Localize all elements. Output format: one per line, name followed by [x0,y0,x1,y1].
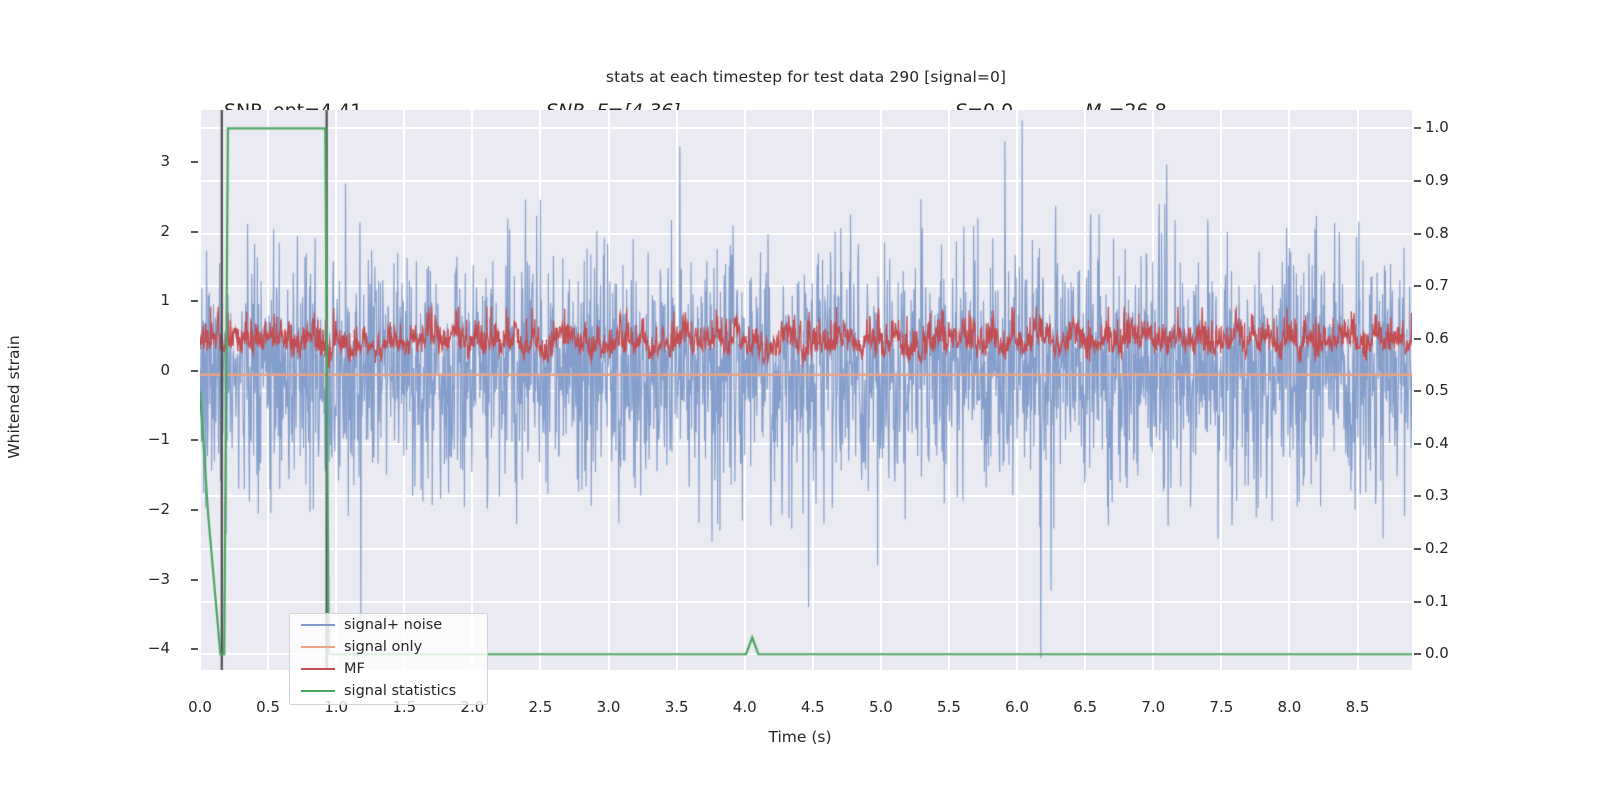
x-tick-label: 8.5 [1333,698,1383,716]
y-tick-label-right: 0.9 [1425,171,1449,189]
legend-item[interactable]: signal only [290,636,487,658]
legend-item[interactable]: signal statistics [290,680,487,702]
legend-swatch-mf [301,668,335,670]
y-tick-label-left: 3 [130,152,170,170]
y-tick-mark-left [191,579,198,581]
y-tick-mark-right [1414,127,1421,129]
y-tick-mark-left [191,231,198,233]
x-tick-label: 7.0 [1128,698,1178,716]
y-tick-mark-right [1414,390,1421,392]
legend-swatch-signal-only [301,646,335,648]
x-tick-label: 4.0 [720,698,770,716]
x-tick-label: 6.5 [1060,698,1110,716]
y-tick-label-left: 1 [130,291,170,309]
y-tick-label-right: 0.7 [1425,276,1449,294]
y-tick-label-right: 0.4 [1425,434,1449,452]
legend-label-mf: MF [344,662,365,677]
legend-swatch-signal-noise [301,624,335,626]
y-tick-label-right: 0.8 [1425,224,1449,242]
y-tick-mark-right [1414,180,1421,182]
figure-canvas: stats at each timestep for test data 290… [0,0,1600,800]
x-tick-label: 0.0 [175,698,225,716]
y-tick-mark-left [191,300,198,302]
legend-box[interactable]: signal+ noise signal only MF signal stat… [289,613,488,705]
x-axis-label: Time (s) [0,728,1600,746]
y-tick-label-right: 1.0 [1425,118,1449,136]
x-tick-label: 3.5 [652,698,702,716]
y-tick-label-left: 0 [130,361,170,379]
legend-item[interactable]: signal+ noise [290,614,487,636]
x-tick-label: 3.0 [584,698,634,716]
x-tick-label: 2.5 [515,698,565,716]
x-tick-label: 6.0 [992,698,1042,716]
legend-item[interactable]: MF [290,658,487,680]
y-tick-mark-right [1414,495,1421,497]
y-tick-mark-right [1414,443,1421,445]
chart-title: stats at each timestep for test data 290… [606,68,1006,86]
y-tick-mark-right [1414,285,1421,287]
y-tick-mark-left [191,509,198,511]
legend-swatch-signal-statistics [301,690,335,692]
y-tick-label-right: 0.0 [1425,644,1449,662]
x-tick-label: 8.0 [1264,698,1314,716]
chart-title-container: stats at each timestep for test data 290… [0,0,1600,18]
y-tick-label-left: −1 [130,430,170,448]
x-tick-label: 7.5 [1196,698,1246,716]
y-tick-label-left: 2 [130,222,170,240]
x-tick-label: 0.5 [243,698,293,716]
y-tick-label-left: −3 [130,570,170,588]
y-tick-mark-left [191,439,198,441]
y-tick-label-left: −2 [130,500,170,518]
y-tick-label-right: 0.5 [1425,381,1449,399]
y-tick-label-right: 0.2 [1425,539,1449,557]
y-tick-mark-right [1414,653,1421,655]
x-tick-label: 5.5 [924,698,974,716]
x-tick-label: 5.0 [856,698,906,716]
y-tick-mark-left [191,161,198,163]
y-tick-label-right: 0.3 [1425,486,1449,504]
y-tick-mark-left [191,648,198,650]
data-traces-canvas [200,110,1412,670]
legend-label-signal-noise: signal+ noise [344,618,442,633]
y-axis-left-label: Whitened strain [5,267,23,527]
y-tick-mark-right [1414,233,1421,235]
y-tick-label-left: −4 [130,639,170,657]
y-tick-mark-right [1414,338,1421,340]
y-tick-mark-left [191,370,198,372]
y-tick-mark-right [1414,548,1421,550]
y-tick-mark-right [1414,601,1421,603]
y-tick-label-right: 0.1 [1425,592,1449,610]
y-tick-label-right: 0.6 [1425,329,1449,347]
legend-label-signal-only: signal only [344,640,422,655]
legend-label-signal-statistics: signal statistics [344,684,456,699]
plot-area: signal+ noise signal only MF signal stat… [200,110,1412,670]
x-tick-label: 4.5 [788,698,838,716]
